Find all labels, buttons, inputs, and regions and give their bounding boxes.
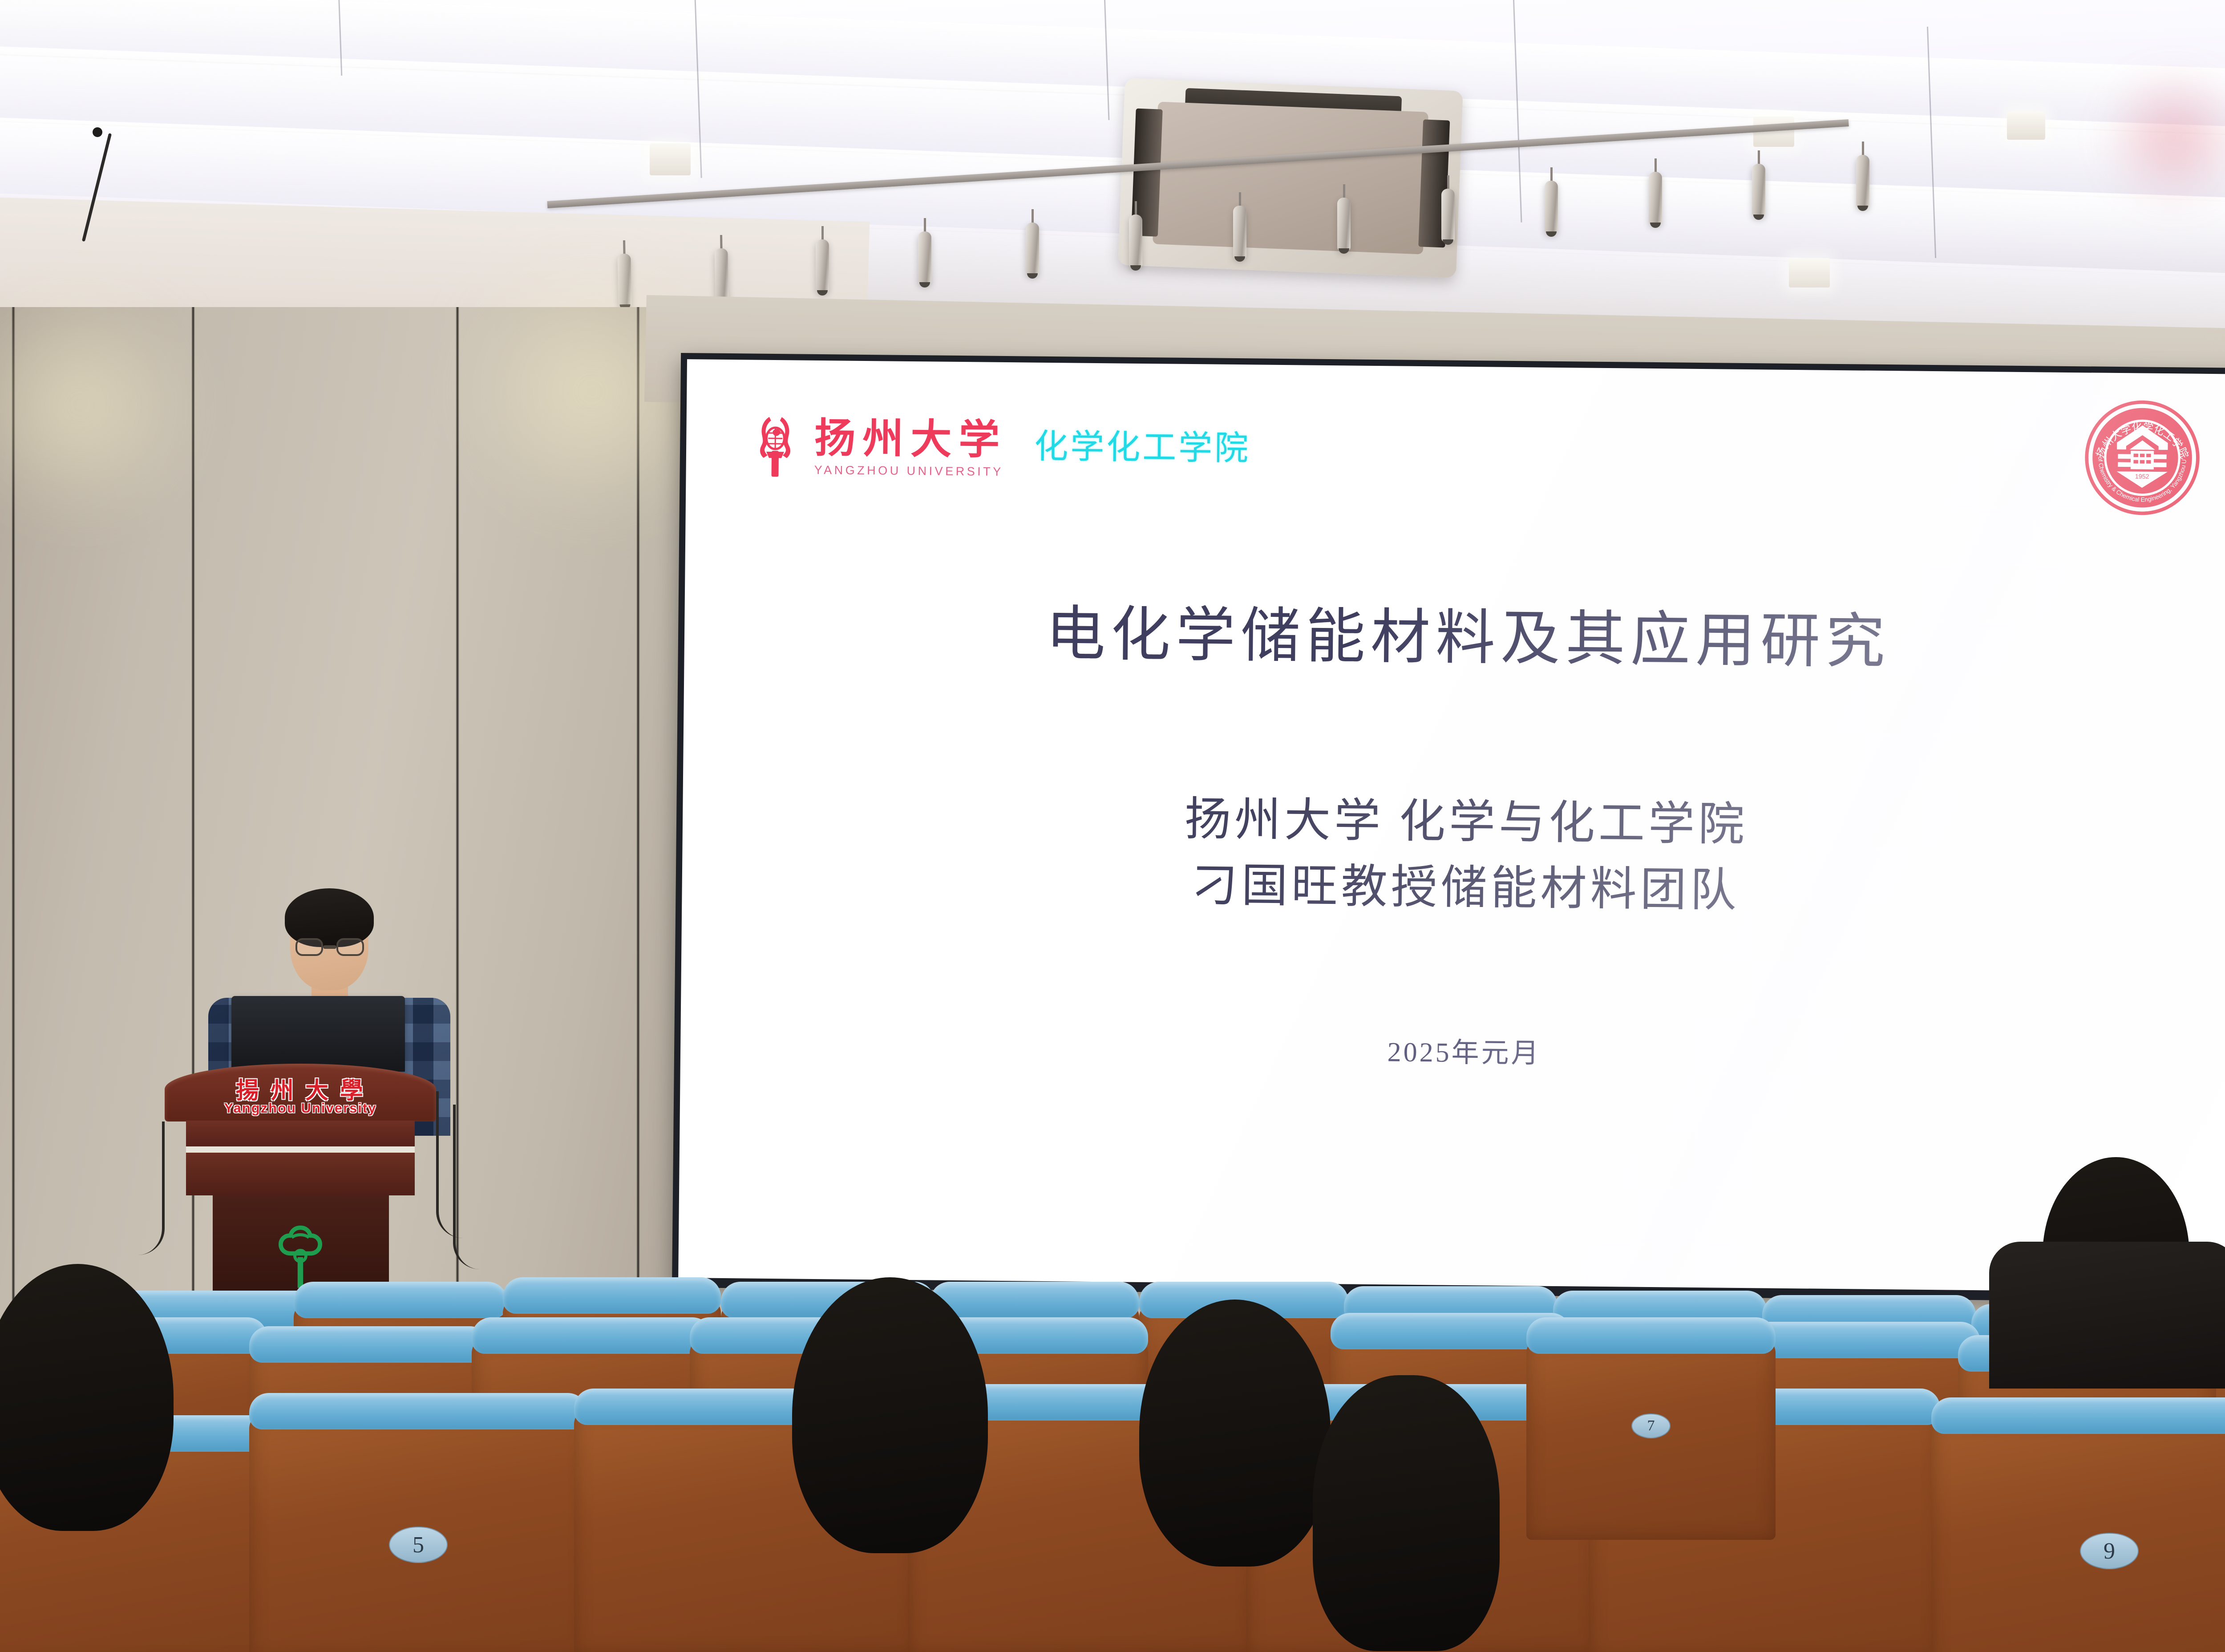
slide-date: 2025年元月 xyxy=(680,1022,2225,1077)
eyeglasses-icon xyxy=(295,938,364,956)
seat-number-plate: 9 xyxy=(2080,1533,2139,1569)
projection-screen[interactable]: 扬州大学 YANGZHOU UNIVERSITY 化学化工学院 xyxy=(672,353,2225,1303)
audience-member-silhouette xyxy=(792,1277,988,1553)
lectern-band xyxy=(186,1146,415,1153)
slide-university-name-cn: 扬州大学 xyxy=(814,417,1007,460)
slide-branding: 扬州大学 YANGZHOU UNIVERSITY 化学化工学院 xyxy=(748,413,1250,485)
recessed-downlight-icon xyxy=(1789,258,1830,287)
audience-member-shoulders xyxy=(1989,1242,2225,1389)
svg-text:1952: 1952 xyxy=(2135,473,2149,480)
cable xyxy=(129,1122,165,1255)
lectern-name-en: Yangzhou University xyxy=(165,1100,436,1116)
auditorium-seat[interactable]: 9 xyxy=(1931,1397,2225,1652)
lecture-hall-photo: 扬州大学 YANGZHOU UNIVERSITY 化学化工学院 xyxy=(0,0,2225,1652)
slide-university-name-en: YANGZHOU UNIVERSITY xyxy=(814,463,1007,478)
lectern-mid-panel xyxy=(186,1121,415,1146)
recessed-downlight-icon xyxy=(650,143,691,175)
slide-title: 电化学储能材料及其应用研究 xyxy=(684,582,2225,683)
auditorium-seat[interactable]: 7 xyxy=(1526,1317,1776,1540)
slide-department-name: 化学化工学院 xyxy=(1034,419,1251,470)
lectern: 揚州大學 Yangzhou University xyxy=(165,1064,436,1304)
gooseneck-microphone-icon xyxy=(93,127,102,137)
slide-subtitle: 扬州大学 化学与化工学院 刁国旺教授储能材料团队 xyxy=(682,782,2225,928)
school-of-chemistry-seal-icon: 1952 扬州大学化学化工学院 School of Chemistry & Ch… xyxy=(2084,399,2201,516)
title-slide: 扬州大学 YANGZHOU UNIVERSITY 化学化工学院 xyxy=(678,359,2225,1293)
cable xyxy=(453,1105,496,1269)
laptop-screen-icon[interactable] xyxy=(231,996,405,1072)
auditorium-seat[interactable]: 5 xyxy=(249,1393,587,1652)
yangzhou-university-torch-logo-icon xyxy=(748,413,802,480)
lectern-lower-panel xyxy=(186,1153,415,1195)
screen-surface: 扬州大学 YANGZHOU UNIVERSITY 化学化工学院 xyxy=(678,359,2225,1293)
recessed-downlight-icon xyxy=(2007,111,2045,140)
audience-member-silhouette xyxy=(1139,1300,1331,1567)
ceiling-cassette-air-conditioner-icon xyxy=(1118,78,1463,278)
wall-light-glow xyxy=(0,280,196,530)
seat-number-plate: 5 xyxy=(389,1526,448,1563)
audience-member-silhouette xyxy=(1313,1375,1500,1651)
seat-number-plate: 7 xyxy=(1631,1413,1671,1438)
